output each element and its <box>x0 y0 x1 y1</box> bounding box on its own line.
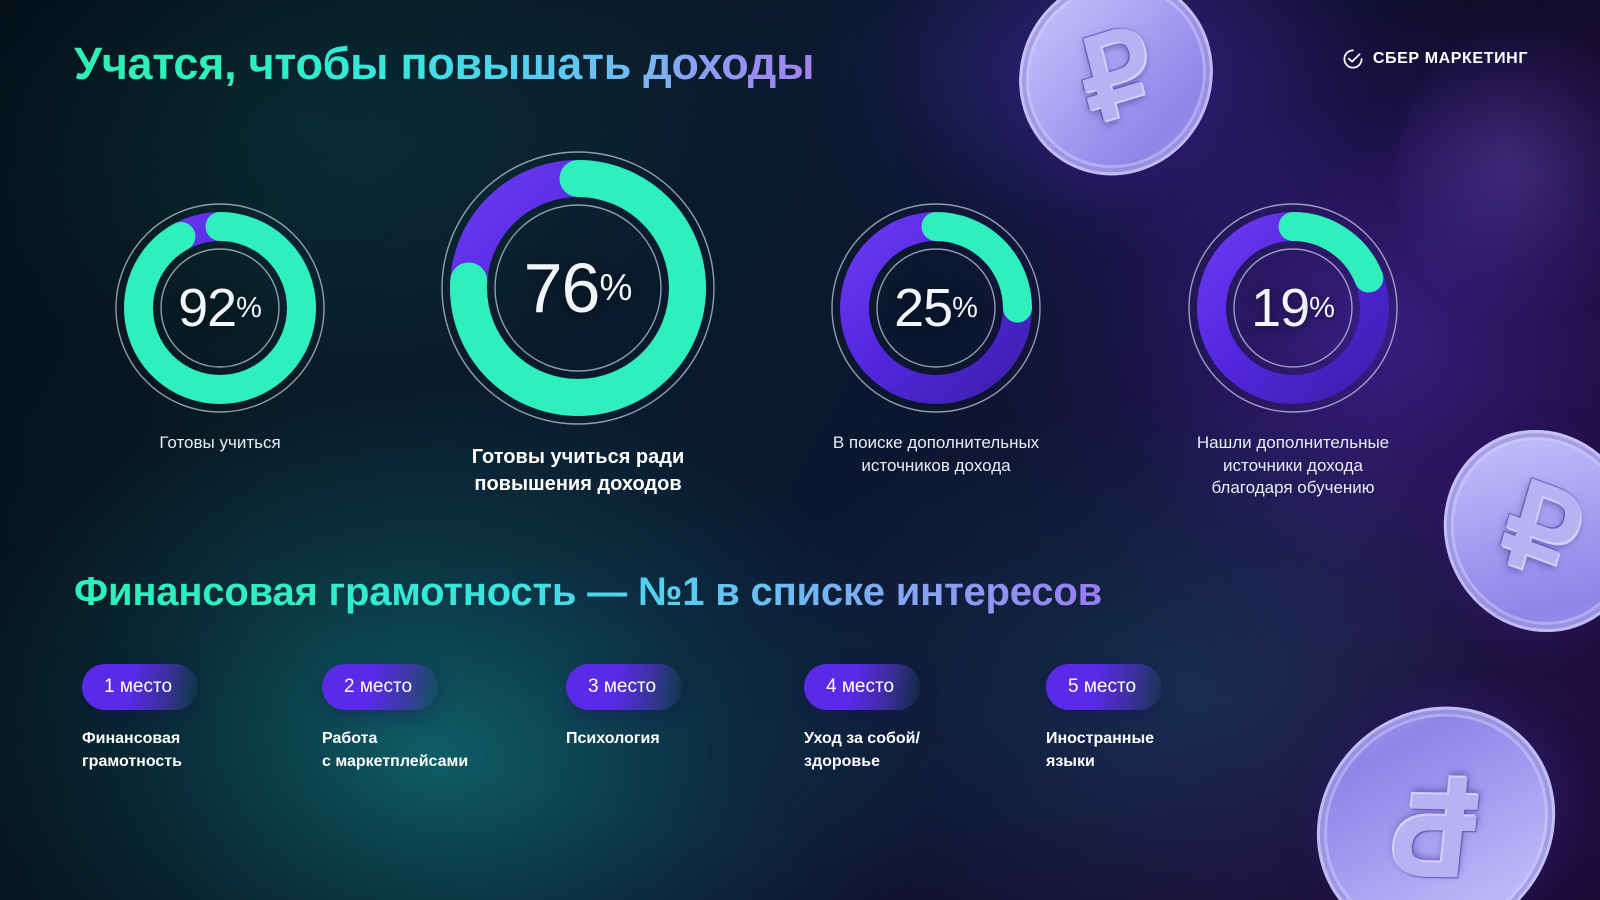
donut-value: 92% <box>114 202 326 414</box>
donut-cell: 19%Нашли дополнительныеисточники доходаб… <box>1162 202 1424 500</box>
rank-badge: 1 место <box>82 664 198 710</box>
ruble-symbol: ₽ <box>1068 11 1163 141</box>
donut-ring: 76% <box>440 150 716 426</box>
donut-chart-row: 92%Готовы учиться76%Готовы учиться радип… <box>0 150 1600 540</box>
donut-cell: 92%Готовы учиться <box>92 202 348 455</box>
rank-item: 4 местоУход за собой/здоровье <box>804 664 1010 773</box>
donut-caption: Готовы учиться радиповышения доходов <box>418 444 738 497</box>
donut-ring: 25% <box>830 202 1042 414</box>
brand-logo: СБЕР МАРКЕТИНГ <box>1342 48 1528 70</box>
donut-value-percent-sign: % <box>952 292 978 325</box>
donut-value-percent-sign: % <box>236 292 262 325</box>
infographic-poster: ₽ ₽ ₽ Учатся, чтобы повышать доходы СБЕР… <box>0 0 1600 900</box>
donut-value: 19% <box>1187 202 1399 414</box>
brand-name: СБЕР МАРКЕТИНГ <box>1373 50 1528 68</box>
donut-caption: Готовы учиться <box>92 432 348 455</box>
rank-item: 3 местоПсихология <box>566 664 756 751</box>
donut-caption: Нашли дополнительныеисточники доходаблаг… <box>1162 432 1424 500</box>
rank-label: Иностранныеязыки <box>1046 728 1252 773</box>
donut-value-number: 19 <box>1251 277 1309 339</box>
donut-cell: 25%В поиске дополнительныхисточников дох… <box>808 202 1064 477</box>
rank-badge: 4 место <box>804 664 920 710</box>
section-title: Финансовая грамотность — №1 в списке инт… <box>74 570 1102 615</box>
rank-label: Финансоваяграмотность <box>82 728 292 773</box>
rank-item: 1 местоФинансоваяграмотность <box>82 664 292 773</box>
donut-ring: 92% <box>114 202 326 414</box>
donut-value-percent-sign: % <box>1309 292 1335 325</box>
donut-cell: 76%Готовы учиться радиповышения доходов <box>418 150 738 497</box>
rank-badge: 3 место <box>566 664 682 710</box>
donut-ring: 19% <box>1187 202 1399 414</box>
rank-label: Психология <box>566 728 756 751</box>
rank-badge: 2 место <box>322 664 438 710</box>
rank-label: Работас маркетплейсами <box>322 728 544 773</box>
rank-item: 5 местоИностранныеязыки <box>1046 664 1252 773</box>
rank-badge: 5 место <box>1046 664 1162 710</box>
donut-value-number: 25 <box>894 277 952 339</box>
donut-caption: В поиске дополнительныхисточников дохода <box>808 432 1064 477</box>
donut-value: 25% <box>830 202 1042 414</box>
donut-value-number: 92 <box>178 277 236 339</box>
donut-value-percent-sign: % <box>599 267 632 309</box>
rank-item: 2 местоРаботас маркетплейсами <box>322 664 544 773</box>
ruble-symbol: ₽ <box>1387 758 1485 891</box>
check-circle-icon <box>1342 48 1364 70</box>
donut-value-number: 76 <box>524 248 600 328</box>
rank-label: Уход за собой/здоровье <box>804 728 1010 773</box>
donut-value: 76% <box>440 150 716 426</box>
page-title: Учатся, чтобы повышать доходы <box>74 38 814 90</box>
